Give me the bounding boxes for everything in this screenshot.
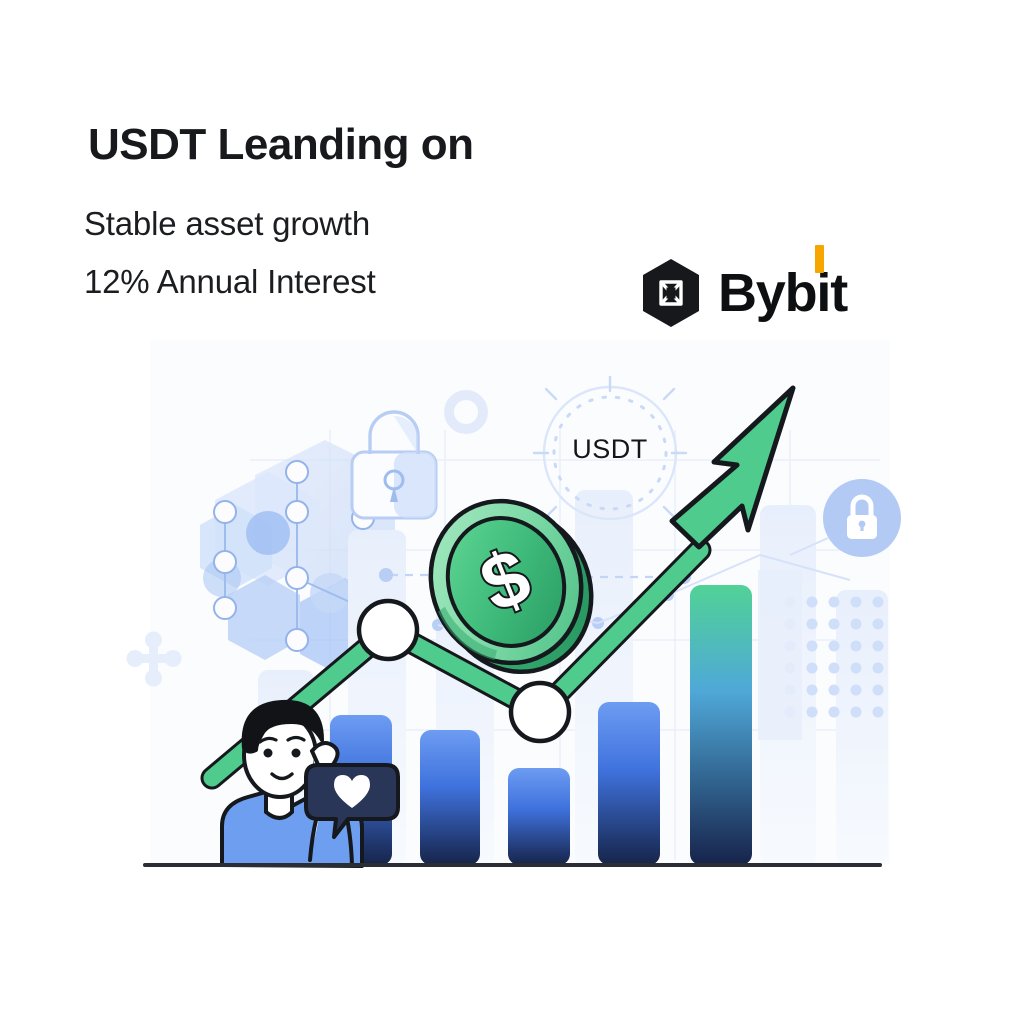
bybit-hex-logo-icon: [640, 258, 702, 328]
bar-4: [598, 702, 660, 865]
trend-marker-2: [511, 683, 569, 741]
usdt-ticker-label: USDT: [558, 434, 662, 465]
illustration-scene: $: [0, 340, 1024, 900]
poster-canvas: USDT Leanding on Stable asset growth 12%…: [0, 0, 1024, 1024]
dot-grid-backdrop: [758, 570, 802, 740]
page-title: USDT Leanding on: [88, 120, 474, 169]
bar-2: [420, 730, 480, 865]
subtitle-line-1: Stable asset growth: [84, 205, 370, 243]
subtitle-line-2: 12% Annual Interest: [84, 263, 376, 301]
trend-marker-1: [359, 601, 417, 659]
bar-3: [508, 768, 570, 865]
brand-name: Bybit: [718, 266, 847, 320]
bar-5: [690, 585, 752, 865]
brand-name-text: Bybit: [718, 263, 847, 323]
brand-accent-dot: [815, 245, 824, 273]
brand-logo: Bybit: [640, 258, 847, 328]
